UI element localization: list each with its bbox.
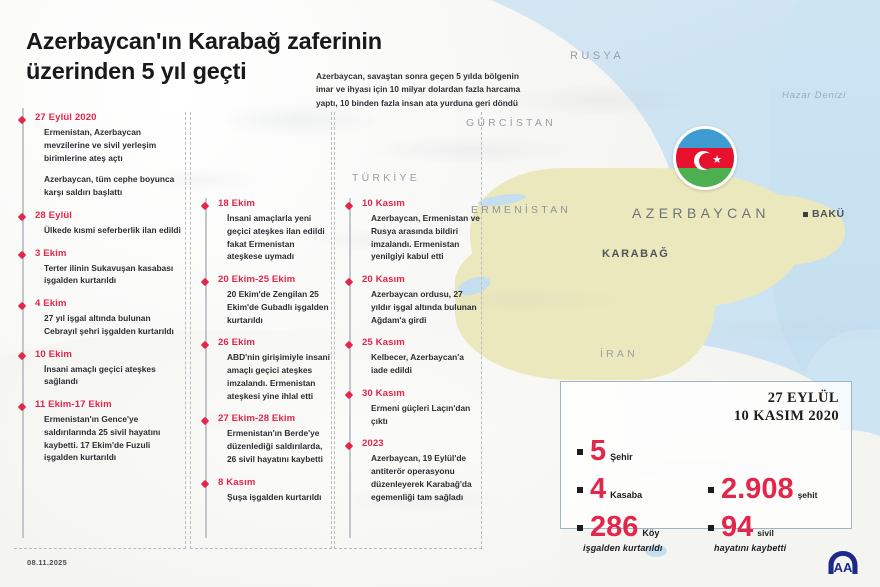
page-title-line1: Azerbaycan'ın Karabağ zaferinin (26, 26, 526, 56)
diamond-bullet-icon (345, 391, 353, 399)
square-bullet-icon (708, 487, 714, 493)
timeline-event[interactable]: 20 Kasım Azerbaycan ordusu, 27 yıldır iş… (335, 274, 481, 326)
event-date: 27 Ekim-28 Ekim (218, 413, 331, 425)
azerbaijan-flag-icon: ★ (673, 126, 737, 190)
timeline-event[interactable]: 27 Eylül 2020 Ermenistan, Azerbaycan mev… (14, 112, 185, 199)
diamond-bullet-icon (201, 277, 209, 285)
stat-value: 5 (590, 437, 606, 466)
timeline-event[interactable]: 18 Ekim İnsani amaçlarla yeni geçici ate… (191, 198, 331, 263)
diamond-bullet-icon (345, 442, 353, 450)
stat-unit: şehit (798, 490, 818, 500)
stat-value: 286 (590, 513, 638, 542)
event-date: 25 Kasım (362, 337, 481, 349)
diamond-bullet-icon (18, 115, 26, 123)
stat-unit: Köy (642, 528, 659, 538)
timeline-event[interactable]: 3 Ekim Terter ilinin Sukavuşan kasabası … (14, 248, 185, 288)
flag-stripe-blue (676, 129, 734, 148)
event-text: 20 Ekim'de Zengilan 25 Ekim'de Gubadlı i… (227, 288, 331, 326)
event-text: Azerbaycan, 19 Eylül'de antiterör operas… (371, 452, 481, 503)
event-date: 11 Ekim-17 Ekim (35, 399, 185, 411)
event-text: Ermenistan'ın Gence'ye saldırılarında 25… (44, 413, 185, 464)
square-bullet-icon (577, 525, 583, 531)
event-text: İnsani amaçlarla yeni geçici ateşkes ila… (227, 212, 331, 263)
diamond-bullet-icon (345, 201, 353, 209)
square-bullet-icon (577, 487, 583, 493)
event-date: 4 Ekim (35, 298, 185, 310)
timeline-event[interactable]: 10 Kasım Azerbaycan, Ermenistan ve Rusya… (335, 198, 481, 263)
event-text: 27 yıl işgal altında bulunan Cebrayıl şe… (44, 312, 185, 338)
timeline-event[interactable]: 30 Kasım Ermeni güçleri Laçın'dan çıktı (335, 388, 481, 428)
timeline-event[interactable]: 28 Eylül Ülkede kısmi seferberlik ilan e… (14, 210, 185, 237)
event-text: Şuşa işgalden kurtarıldı (227, 491, 331, 504)
diamond-bullet-icon (18, 301, 26, 309)
event-text: Azerbaycan ordusu, 27 yıldır işgal altın… (371, 288, 481, 326)
statistics-date-range: 27 EYLÜL 10 KASIM 2020 (573, 390, 839, 425)
event-date: 26 Ekim (218, 337, 331, 349)
event-text: Azerbaycan, Ermenistan ve Rusya arasında… (371, 212, 481, 263)
diamond-bullet-icon (201, 201, 209, 209)
event-text: Ülkede kısmi seferberlik ilan edildi (44, 224, 185, 237)
diamond-bullet-icon (201, 480, 209, 488)
event-text: Kelbecer, Azerbaycan'a iade edildi (371, 351, 481, 377)
timeline-event[interactable]: 8 Kasım Şuşa işgalden kurtarıldı (191, 477, 331, 504)
infographic-root: RUSYA GÜRCİSTAN TÜRKİYE ERMENİSTAN İRAN … (0, 0, 880, 587)
timeline: 27 Eylül 2020 Ermenistan, Azerbaycan mev… (14, 112, 484, 552)
timeline-event[interactable]: 10 Ekim İnsani amaçlı geçici ateşkes sağ… (14, 349, 185, 389)
diamond-bullet-icon (345, 277, 353, 285)
stat-unit: sivil (757, 528, 774, 538)
diamond-bullet-icon (18, 402, 26, 410)
timeline-column-2: 18 Ekim İnsani amaçlarla yeni geçici ate… (190, 112, 332, 549)
square-bullet-icon (577, 449, 583, 455)
event-text: İnsani amaçlı geçici ateşkes sağlandı (44, 363, 185, 389)
timeline-events-3: 10 Kasım Azerbaycan, Ermenistan ve Rusya… (335, 112, 481, 503)
star-icon: ★ (712, 155, 722, 165)
stat-caption-koy: işgalden kurtarıldı (583, 543, 662, 553)
anadolu-agency-logo-icon: AA (824, 549, 862, 577)
diamond-bullet-icon (201, 417, 209, 425)
stat-caption-sivil: hayatını kaybetti (714, 543, 786, 553)
statistics-date-line1: 27 EYLÜL (573, 390, 839, 408)
timeline-event[interactable]: 2023 Azerbaycan, 19 Eylül'de antiterör o… (335, 438, 481, 503)
event-date: 10 Ekim (35, 349, 185, 361)
stat-value: 4 (590, 475, 606, 504)
svg-text:AA: AA (834, 560, 853, 575)
event-date: 10 Kasım (362, 198, 481, 210)
event-date: 3 Ekim (35, 248, 185, 260)
timeline-event[interactable]: 27 Ekim-28 Ekim Ermenistan'ın Berde'ye d… (191, 413, 331, 465)
stat-sehir: 5 Şehir (577, 437, 633, 466)
stat-sehit: 2.908 şehit (708, 475, 817, 504)
statistics-date-line2: 10 KASIM 2020 (573, 408, 839, 426)
diamond-bullet-icon (18, 251, 26, 259)
stat-sivil: 94 sivil (708, 513, 774, 542)
event-text: ABD'nin girişimiyle insani amaçlı geçici… (227, 351, 331, 402)
stat-unit: Şehir (610, 452, 633, 462)
diamond-bullet-icon (201, 341, 209, 349)
stat-value: 2.908 (721, 475, 794, 504)
diamond-bullet-icon (345, 341, 353, 349)
timeline-column-3: 10 Kasım Azerbaycan, Ermenistan ve Rusya… (334, 112, 482, 549)
stat-koy: 286 Köy (577, 513, 659, 542)
event-date: 2023 (362, 438, 481, 450)
event-text: Ermenistan'ın Berde'ye düzenlediği saldı… (227, 427, 331, 465)
timeline-event[interactable]: 20 Ekim-25 Ekim 20 Ekim'de Zengilan 25 E… (191, 274, 331, 326)
timeline-events-1: 27 Eylül 2020 Ermenistan, Azerbaycan mev… (14, 112, 185, 464)
timeline-column-1: 27 Eylül 2020 Ermenistan, Azerbaycan mev… (14, 112, 186, 549)
timeline-event[interactable]: 25 Kasım Kelbecer, Azerbaycan'a iade edi… (335, 337, 481, 377)
event-date: 28 Eylül (35, 210, 185, 222)
event-date: 30 Kasım (362, 388, 481, 400)
event-date: 27 Eylül 2020 (35, 112, 185, 124)
city-marker-baku (803, 212, 808, 217)
stat-unit: Kasaba (610, 490, 642, 500)
event-text: Ermeni güçleri Laçın'dan çıktı (371, 402, 481, 428)
timeline-event[interactable]: 26 Ekim ABD'nin girişimiyle insani amaçl… (191, 337, 331, 402)
timeline-event[interactable]: 11 Ekim-17 Ekim Ermenistan'ın Gence'ye s… (14, 399, 185, 464)
square-bullet-icon (708, 525, 714, 531)
diamond-bullet-icon (18, 213, 26, 221)
flag-stripe-green (676, 168, 734, 187)
timeline-events-2: 18 Ekim İnsani amaçlarla yeni geçici ate… (191, 112, 331, 503)
statistics-panel: 27 EYLÜL 10 KASIM 2020 5 Şehir 4 Kasaba … (560, 381, 852, 529)
diamond-bullet-icon (18, 352, 26, 360)
timeline-event[interactable]: 4 Ekim 27 yıl işgal altında bulunan Cebr… (14, 298, 185, 338)
publication-date: 08.11.2025 (27, 558, 67, 567)
event-text: Azerbaycan, tüm cephe boyunca karşı sald… (44, 173, 185, 199)
event-text: Ermenistan, Azerbaycan mevzilerine ve si… (44, 126, 185, 164)
page-subtitle: Azerbaycan, savaştan sonra geçen 5 yılda… (316, 70, 521, 110)
stat-kasaba: 4 Kasaba (577, 475, 642, 504)
event-date: 20 Kasım (362, 274, 481, 286)
event-text: Terter ilinin Sukavuşan kasabası işgalde… (44, 262, 185, 288)
stat-value: 94 (721, 513, 753, 542)
event-date: 20 Ekim-25 Ekim (218, 274, 331, 286)
crescent-icon (694, 151, 713, 170)
event-date: 8 Kasım (218, 477, 331, 489)
event-date: 18 Ekim (218, 198, 331, 210)
